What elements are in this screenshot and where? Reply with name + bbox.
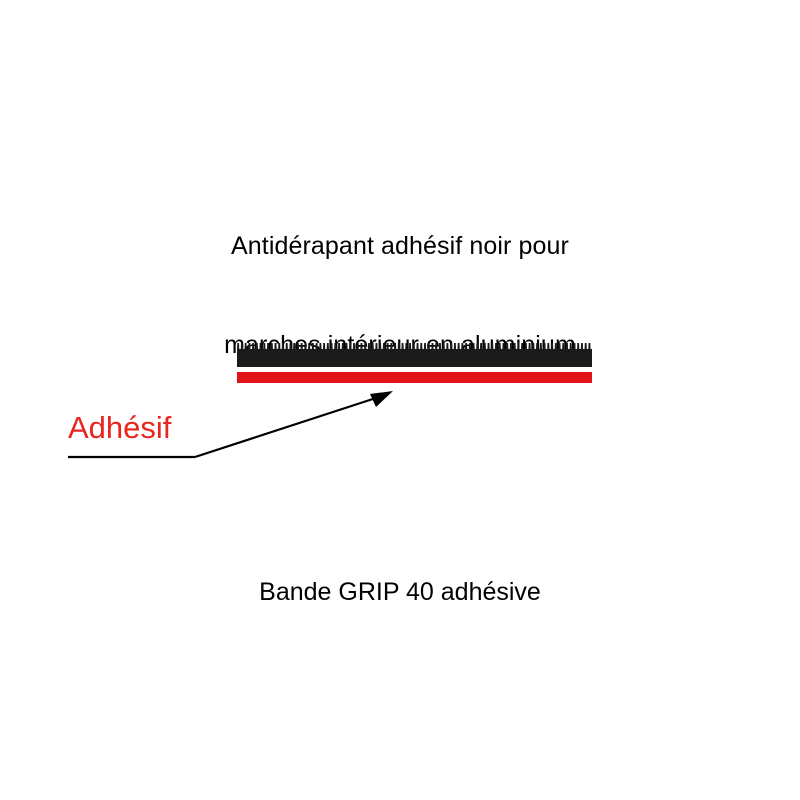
leader-arrowhead-icon <box>370 391 393 407</box>
grip-layer-teeth <box>237 343 591 350</box>
grip-layer-body <box>237 349 592 367</box>
product-caption: Bande GRIP 40 adhésive <box>0 577 800 608</box>
product-strip-diagram <box>237 343 592 383</box>
leader-diagonal-segment <box>195 396 382 457</box>
diagram-page: Antidérapant adhésif noir pour marches i… <box>0 0 800 800</box>
adhesif-callout-label: Adhésif <box>68 409 171 447</box>
strip-cross-section-svg <box>237 343 592 383</box>
page-title-line-1: Antidérapant adhésif noir pour <box>0 230 800 263</box>
